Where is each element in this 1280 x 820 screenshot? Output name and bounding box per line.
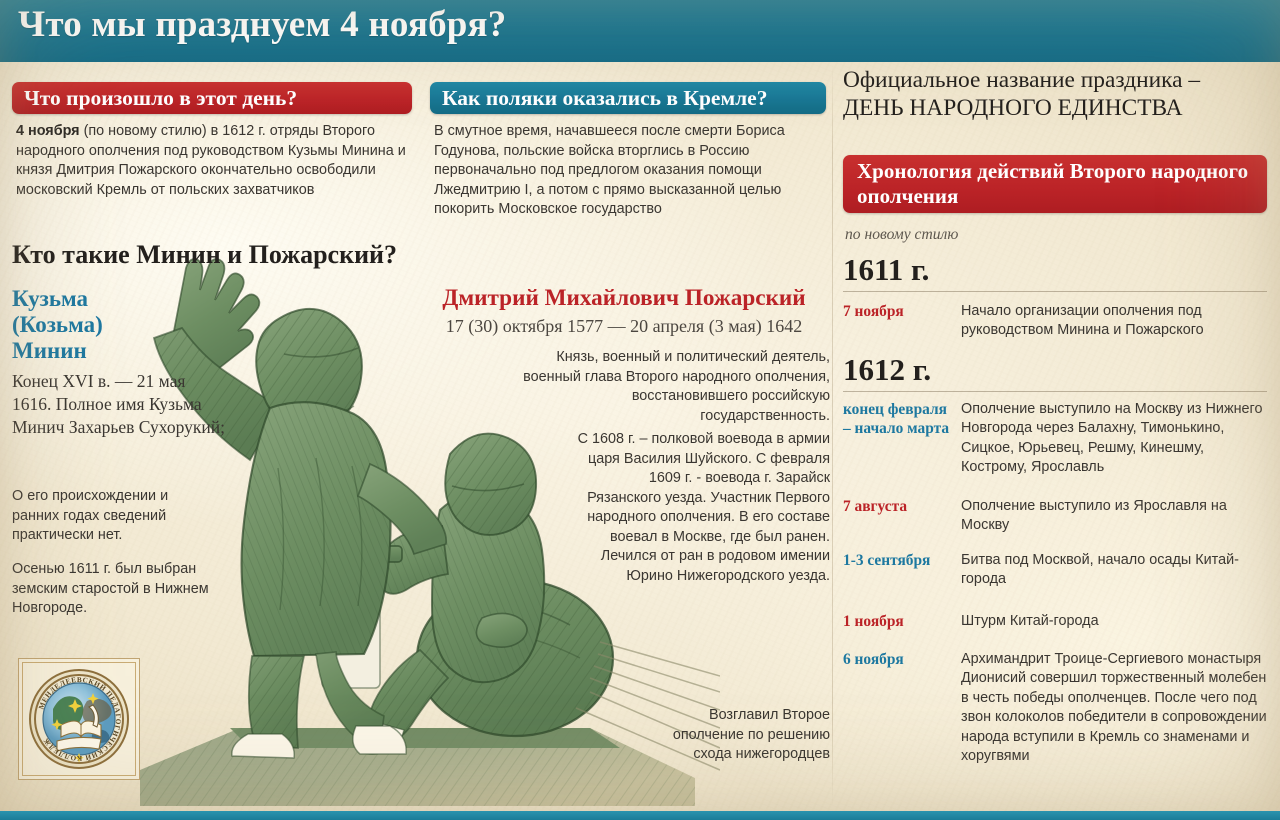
timeline-date: 1-3 сентября	[843, 551, 955, 570]
chronology-title: Хронология действий Второго народного оп…	[857, 159, 1253, 208]
pozharsky-dates: 17 (30) октября 1577 — 20 апреля (3 мая)…	[418, 316, 830, 337]
question-1-lead: 4 ноября	[16, 123, 80, 139]
timeline-description: Начало организации ополчения под руковод…	[961, 302, 1267, 341]
year-rule-1612	[843, 391, 1267, 392]
timeline-date: конец февраля – начало марта	[843, 400, 955, 438]
timeline-description: Ополчение выступило из Ярославля на Моск…	[961, 497, 1267, 536]
timeline-description: Битва под Москвой, начало осады Китай-го…	[961, 551, 1267, 590]
year-heading-1612: 1612 г.	[843, 352, 931, 388]
minin-name: Кузьма (Козьма) Минин	[12, 286, 182, 365]
question-1-text: 4 ноября (по новому стилю) в 1612 г. отр…	[16, 122, 412, 200]
timeline-description: Штурм Китай-города	[961, 612, 1267, 631]
page-footer-bar	[0, 811, 1280, 820]
official-line-2: ДЕНЬ НАРОДНОГО ЕДИНСТВА	[843, 94, 1268, 122]
timeline-date: 1 ноября	[843, 612, 955, 631]
question-1-title: Что произошло в этот день?	[24, 86, 297, 111]
official-line-1: Официальное название праздника –	[843, 66, 1268, 94]
question-2-title: Как поляки оказались в Кремле?	[442, 86, 767, 111]
question-2-text: В смутное время, начавшееся после смерти…	[434, 122, 828, 220]
year-rule-1611	[843, 291, 1267, 292]
who-heading: Кто такие Минин и Пожарский?	[12, 240, 482, 270]
timeline-date: 7 ноября	[843, 302, 955, 321]
pozharsky-paragraph-2: С 1608 г. – полковой воевода в армии цар…	[575, 430, 830, 586]
question-1-banner: Что произошло в этот день?	[12, 82, 412, 114]
chronology-note: по новому стилю	[845, 226, 958, 244]
pozharsky-paragraph-1: Князь, военный и политический деятель, в…	[510, 348, 830, 426]
timeline-description: Архимандрит Троице-Сергиевого монастыря …	[961, 650, 1267, 766]
timeline-date: 6 ноября	[843, 650, 955, 669]
minin-paragraph-1: О его происхождении и ранних годах сведе…	[12, 487, 217, 546]
minin-dates: Конец XVI в. — 21 мая 1616. Полное имя К…	[12, 370, 227, 438]
page-header: Что мы празднуем 4 ноября?	[0, 0, 1280, 62]
timeline-description: Ополчение выступило на Москву из Нижнего…	[961, 400, 1267, 478]
pozharsky-paragraph-3: Возглавил Второе ополчение по решению сх…	[640, 706, 830, 765]
official-holiday-name: Официальное название праздника – ДЕНЬ НА…	[843, 66, 1268, 122]
year-heading-1611: 1611 г.	[843, 252, 929, 288]
college-emblem: МЕНДЕЛЕЕВСКИЙ ПЕДАГОГИЧЕСКИЙ КОЛЛЕДЖ	[22, 662, 136, 776]
chronology-banner: Хронология действий Второго народного оп…	[843, 155, 1267, 213]
infographic-page: Что мы празднуем 4 ноября? Что произошло…	[0, 0, 1280, 820]
minin-paragraph-2: Осенью 1611 г. был выбран земским старос…	[12, 560, 222, 619]
question-2-banner: Как поляки оказались в Кремле?	[430, 82, 826, 114]
column-divider	[832, 64, 833, 806]
emblem-disc: МЕНДЕЛЕЕВСКИЙ ПЕДАГОГИЧЕСКИЙ КОЛЛЕДЖ	[29, 669, 129, 769]
timeline-date: 7 августа	[843, 497, 955, 516]
pozharsky-name: Дмитрий Михайлович Пожарский	[418, 285, 830, 312]
page-title: Что мы празднуем 4 ноября?	[18, 3, 506, 46]
